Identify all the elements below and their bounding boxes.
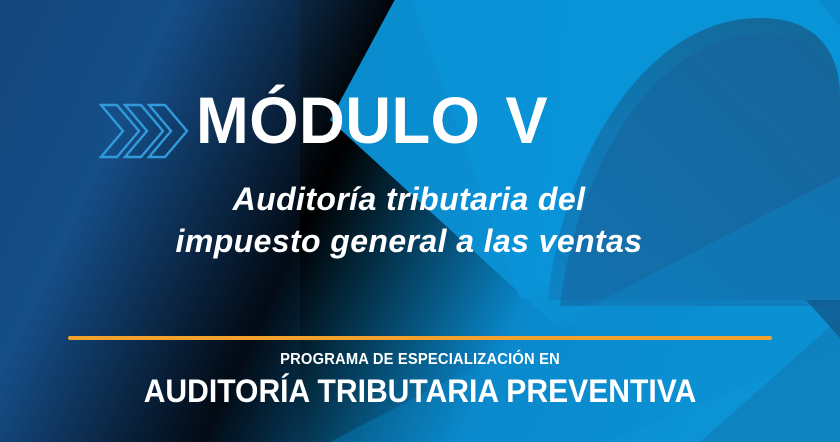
course-module-banner: MÓDULOV Auditoría tributaria del impuest…	[0, 0, 840, 442]
program-prefix-label: PROGRAMA DE ESPECIALIZACIÓN EN	[34, 349, 807, 371]
subtitle-line-2: impuesto general a las ventas	[0, 220, 818, 262]
module-label: MÓDULO	[196, 83, 480, 157]
program-name-label: AUDITORÍA TRIBUTARIA PREVENTIVA	[25, 372, 815, 410]
divider-rule	[68, 336, 772, 340]
subtitle-line-1: Auditoría tributaria del	[0, 178, 818, 220]
module-number: V	[505, 83, 548, 157]
subtitle: Auditoría tributaria del impuesto genera…	[0, 178, 840, 262]
chevron-right-triple-icon	[99, 101, 194, 161]
page-title: MÓDULOV	[196, 84, 548, 156]
program-footer: PROGRAMA DE ESPECIALIZACIÓN EN AUDITORÍA…	[0, 349, 840, 410]
